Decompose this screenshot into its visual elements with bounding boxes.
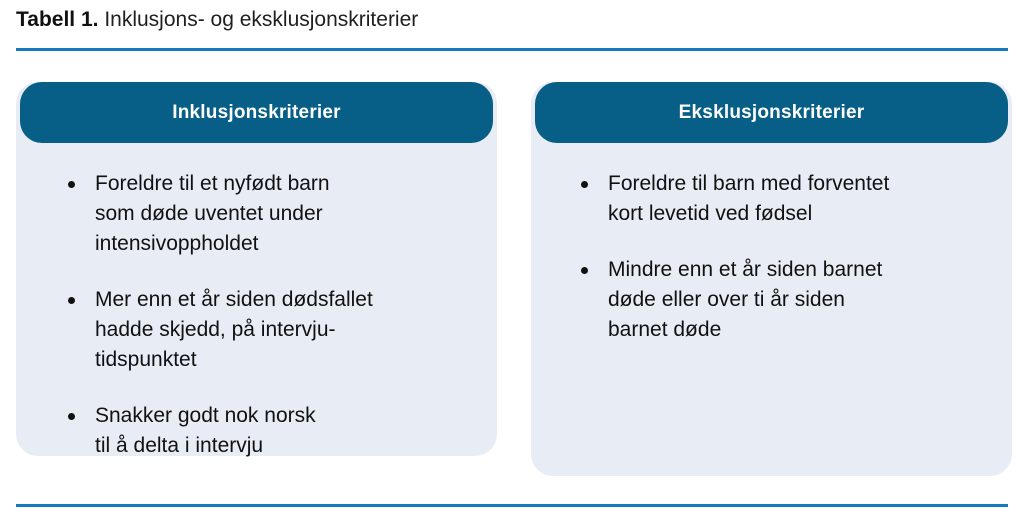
list-item: Mer enn et år siden dødsfallet hadde skj… — [64, 285, 471, 375]
top-divider-rule — [16, 48, 1008, 51]
figure-caption: Tabell 1. Inklusjons- og eksklusjonskrit… — [16, 6, 1006, 34]
exclusion-criteria-header: Eksklusjonskriterier — [535, 82, 1008, 143]
list-item: Snakker godt nok norsk til å delta i int… — [64, 401, 471, 461]
caption-text: Inklusjons- og eksklusjonskriterier — [98, 8, 418, 31]
exclusion-criteria-list: Foreldre til barn med forventet kort lev… — [577, 169, 986, 345]
inclusion-criteria-card: Inklusjonskriterier Foreldre til et nyfø… — [16, 82, 497, 456]
criteria-columns: Inklusjonskriterier Foreldre til et nyfø… — [16, 82, 1012, 476]
exclusion-criteria-body: Foreldre til barn med forventet kort lev… — [531, 143, 1012, 365]
caption-label: Tabell 1. — [16, 8, 98, 31]
list-item: Foreldre til barn med forventet kort lev… — [577, 169, 986, 229]
exclusion-criteria-title: Eksklusjonskriterier — [679, 101, 865, 125]
inclusion-criteria-list: Foreldre til et nyfødt barn som døde uve… — [64, 169, 471, 461]
inclusion-criteria-body: Foreldre til et nyfødt barn som døde uve… — [16, 143, 497, 481]
exclusion-criteria-card: Eksklusjonskriterier Foreldre til barn m… — [531, 82, 1012, 476]
inclusion-criteria-title: Inklusjonskriterier — [172, 101, 341, 125]
table-figure: Tabell 1. Inklusjons- og eksklusjonskrit… — [0, 0, 1024, 520]
bottom-divider-rule — [16, 504, 1008, 507]
list-item: Mindre enn et år siden barnet døde eller… — [577, 255, 986, 345]
inclusion-criteria-header: Inklusjonskriterier — [20, 82, 493, 143]
list-item: Foreldre til et nyfødt barn som døde uve… — [64, 169, 471, 259]
